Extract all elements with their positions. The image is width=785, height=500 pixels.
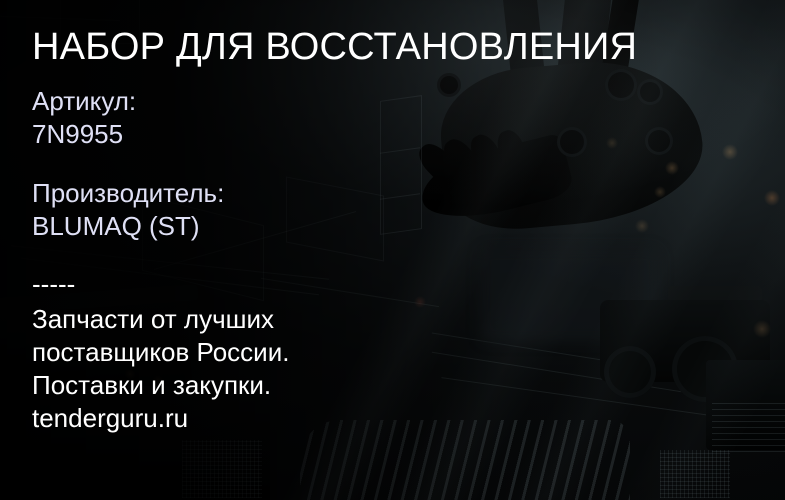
section-divider: ----- — [32, 268, 75, 301]
article-field: Артикул: 7N9955 — [32, 85, 136, 151]
banner-content: НАБОР ДЛЯ ВОССТАНОВЛЕНИЯ Артикул: 7N9955… — [0, 0, 785, 500]
product-title: НАБОР ДЛЯ ВОССТАНОВЛЕНИЯ — [32, 25, 637, 69]
manufacturer-field: Производитель: BLUMAQ (ST) — [32, 177, 224, 243]
article-label: Артикул: — [32, 85, 136, 118]
promo-line-2: поставщиков России. — [32, 336, 289, 369]
promo-line-3: Поставки и закупки. — [32, 369, 289, 402]
manufacturer-value: BLUMAQ (ST) — [32, 210, 224, 243]
article-value: 7N9955 — [32, 118, 136, 151]
promo-block: Запчасти от лучших поставщиков России. П… — [32, 303, 289, 435]
manufacturer-label: Производитель: — [32, 177, 224, 210]
promo-site-url: tenderguru.ru — [32, 402, 289, 435]
product-banner: НАБОР ДЛЯ ВОССТАНОВЛЕНИЯ Артикул: 7N9955… — [0, 0, 785, 500]
promo-line-1: Запчасти от лучших — [32, 303, 289, 336]
